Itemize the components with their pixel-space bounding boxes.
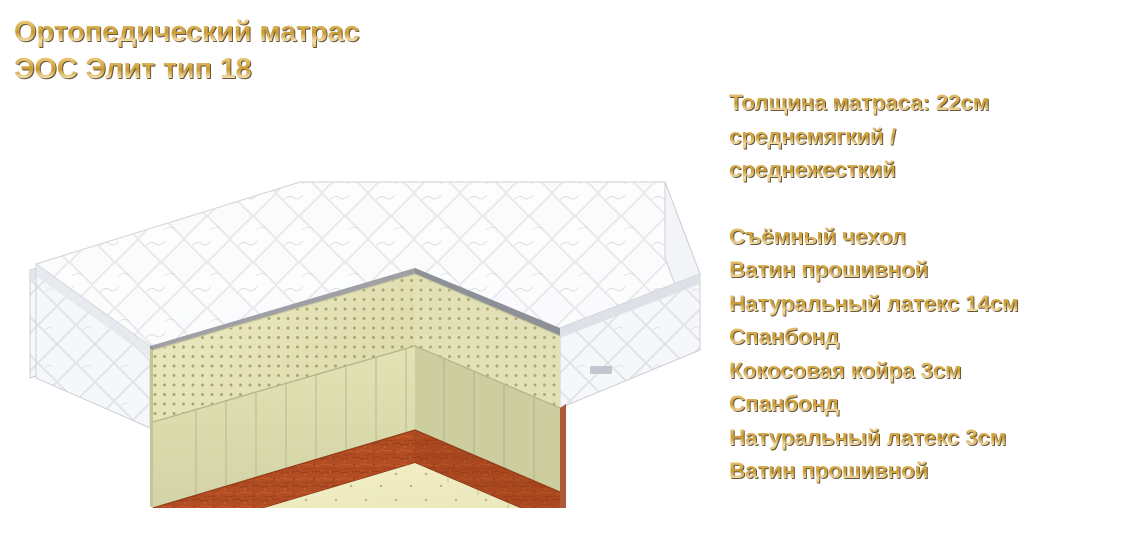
specifications-panel: Толщина матраса: 22см среднемягкий / сре… xyxy=(729,86,1129,488)
page-title-line-1: Ортопедический матрас xyxy=(14,14,694,51)
layer-list: Съёмный чехол Ватин прошивной Натуральны… xyxy=(729,220,1129,488)
layer-item-latex-3cm: Натуральный латекс 3см xyxy=(729,421,1129,455)
cover-brand-tag xyxy=(590,366,612,374)
layer-item-latex-14cm: Натуральный латекс 14см xyxy=(729,287,1129,321)
mattress-cutaway-illustration xyxy=(0,78,710,508)
layer-item-coir-3cm: Кокосовая койра 3см xyxy=(729,354,1129,388)
layer-item-spunbond-bottom: Спанбонд xyxy=(729,387,1129,421)
spec-summary-block: Толщина матраса: 22см среднемягкий / сре… xyxy=(729,86,1129,187)
layer-item-cover: Съёмный чехол xyxy=(729,220,1129,254)
spec-summary-line-2: среднемягкий / xyxy=(729,120,1129,154)
coir-right-edge xyxy=(560,404,566,508)
spec-summary-line-3: среднежесткий xyxy=(729,153,1129,187)
mattress-svg xyxy=(0,78,710,508)
layer-item-batting-bottom: Ватин прошивной xyxy=(729,454,1129,488)
spec-summary-line-1: Толщина матраса: 22см xyxy=(729,86,1129,120)
layer-item-spunbond-top: Спанбонд xyxy=(729,320,1129,354)
layer-item-batting-top: Ватин прошивной xyxy=(729,253,1129,287)
page-title: Ортопедический матрас ЭОС Элит тип 18 xyxy=(14,14,694,88)
